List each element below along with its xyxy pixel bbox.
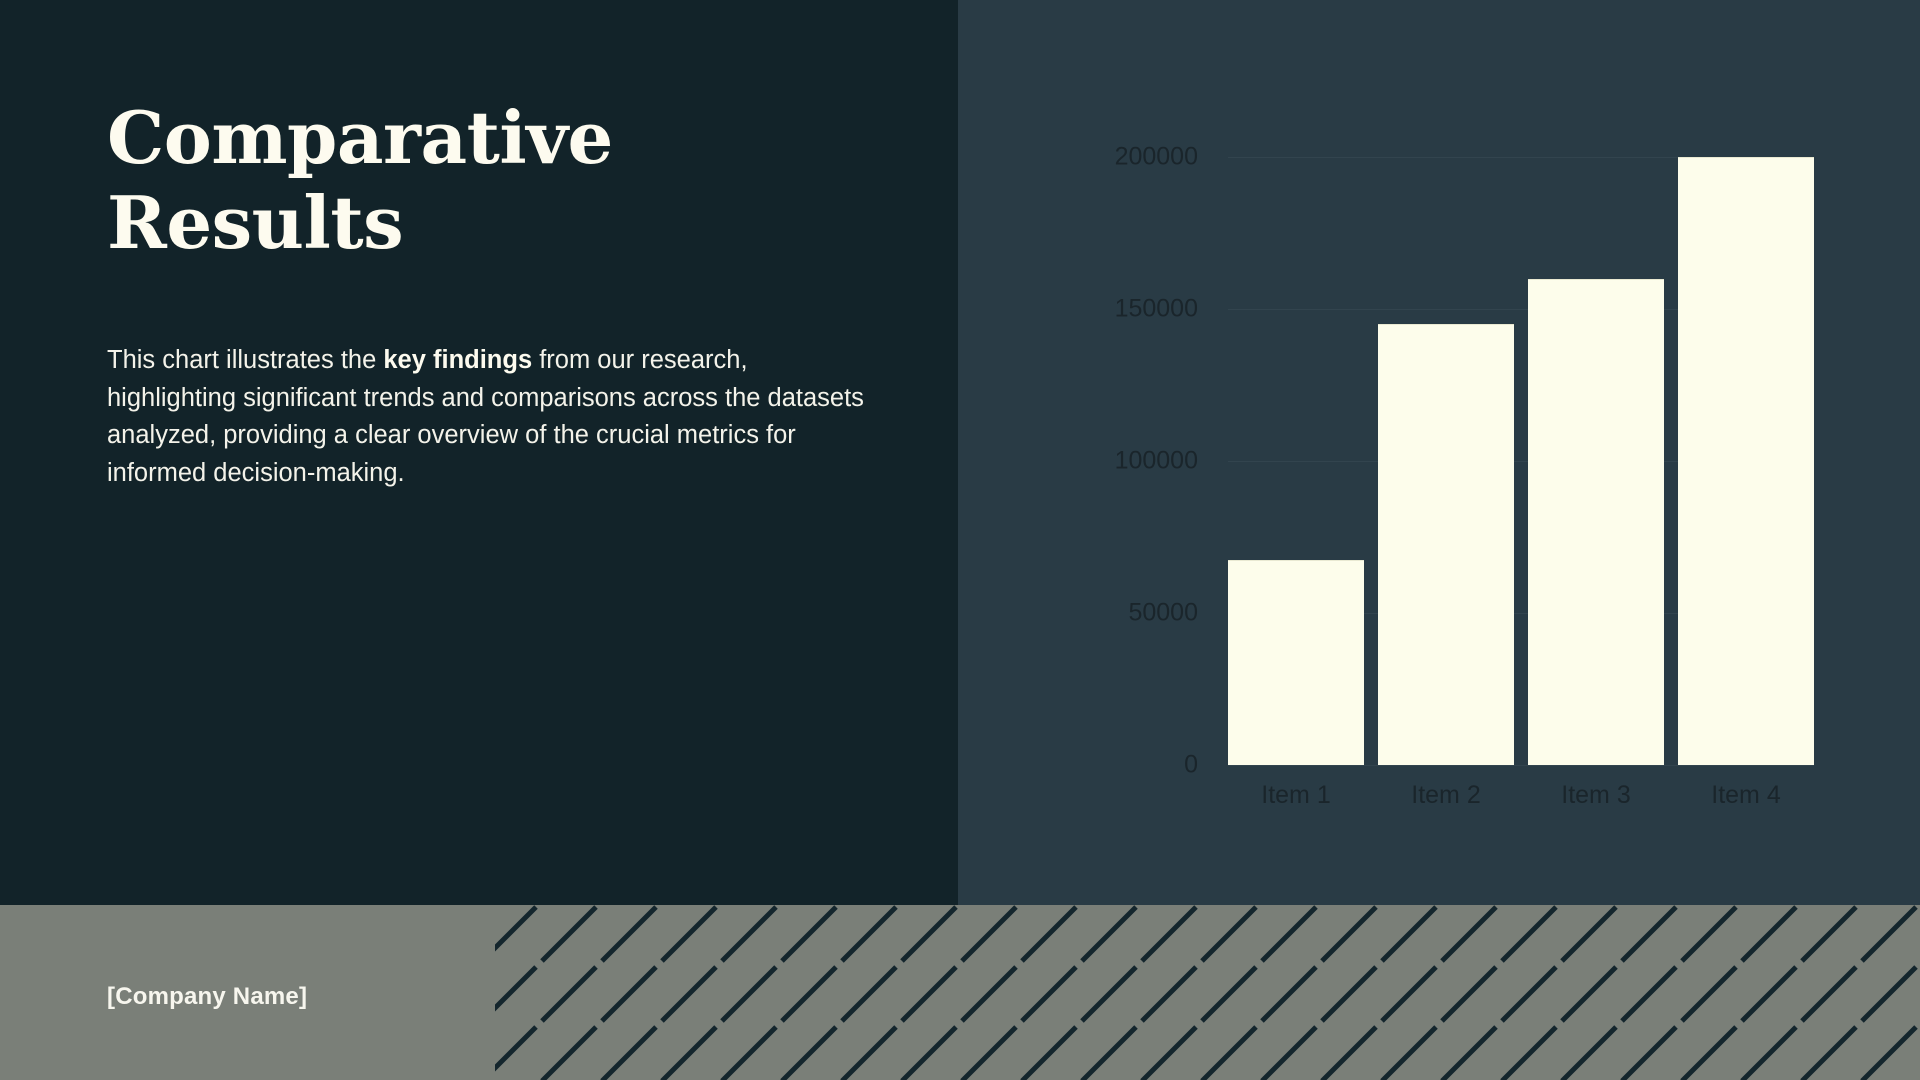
slide-root: Comparative Results This chart illustrat… <box>0 0 1920 1080</box>
y-axis-tick-label: 200000 <box>1115 143 1198 172</box>
bar <box>1378 324 1514 765</box>
bar-chart: 050000100000150000200000 Item 1Item 2Ite… <box>958 0 1920 905</box>
x-axis-tick-label: Item 1 <box>1228 781 1364 810</box>
body-paragraph: This chart illustrates the key findings … <box>107 342 882 493</box>
y-axis-tick-label: 100000 <box>1115 447 1198 476</box>
footer-band: [Company Name] <box>0 905 1920 1080</box>
y-axis-tick-label: 50000 <box>1128 599 1198 628</box>
page-title: Comparative Results <box>107 96 867 266</box>
gridline <box>1228 765 1814 766</box>
chart-plot-area: 050000100000150000200000 Item 1Item 2Ite… <box>1228 157 1814 765</box>
bar-group: Item 3 <box>1528 157 1664 765</box>
bar-group: Item 2 <box>1378 157 1514 765</box>
company-name: [Company Name] <box>107 983 307 1011</box>
chart-bars: Item 1Item 2Item 3Item 4 <box>1228 157 1814 765</box>
bar-group: Item 1 <box>1228 157 1364 765</box>
x-axis-tick-label: Item 3 <box>1528 781 1664 810</box>
y-axis-tick-label: 0 <box>1184 751 1198 780</box>
body-text-emphasis: key findings <box>383 346 532 374</box>
body-text-part-1: This chart illustrates the <box>107 346 383 374</box>
y-axis-tick-label: 150000 <box>1115 295 1198 324</box>
bar <box>1528 279 1664 765</box>
x-axis-tick-label: Item 4 <box>1678 781 1814 810</box>
bar-group: Item 4 <box>1678 157 1814 765</box>
bar <box>1678 157 1814 765</box>
x-axis-tick-label: Item 2 <box>1378 781 1514 810</box>
bar <box>1228 560 1364 765</box>
